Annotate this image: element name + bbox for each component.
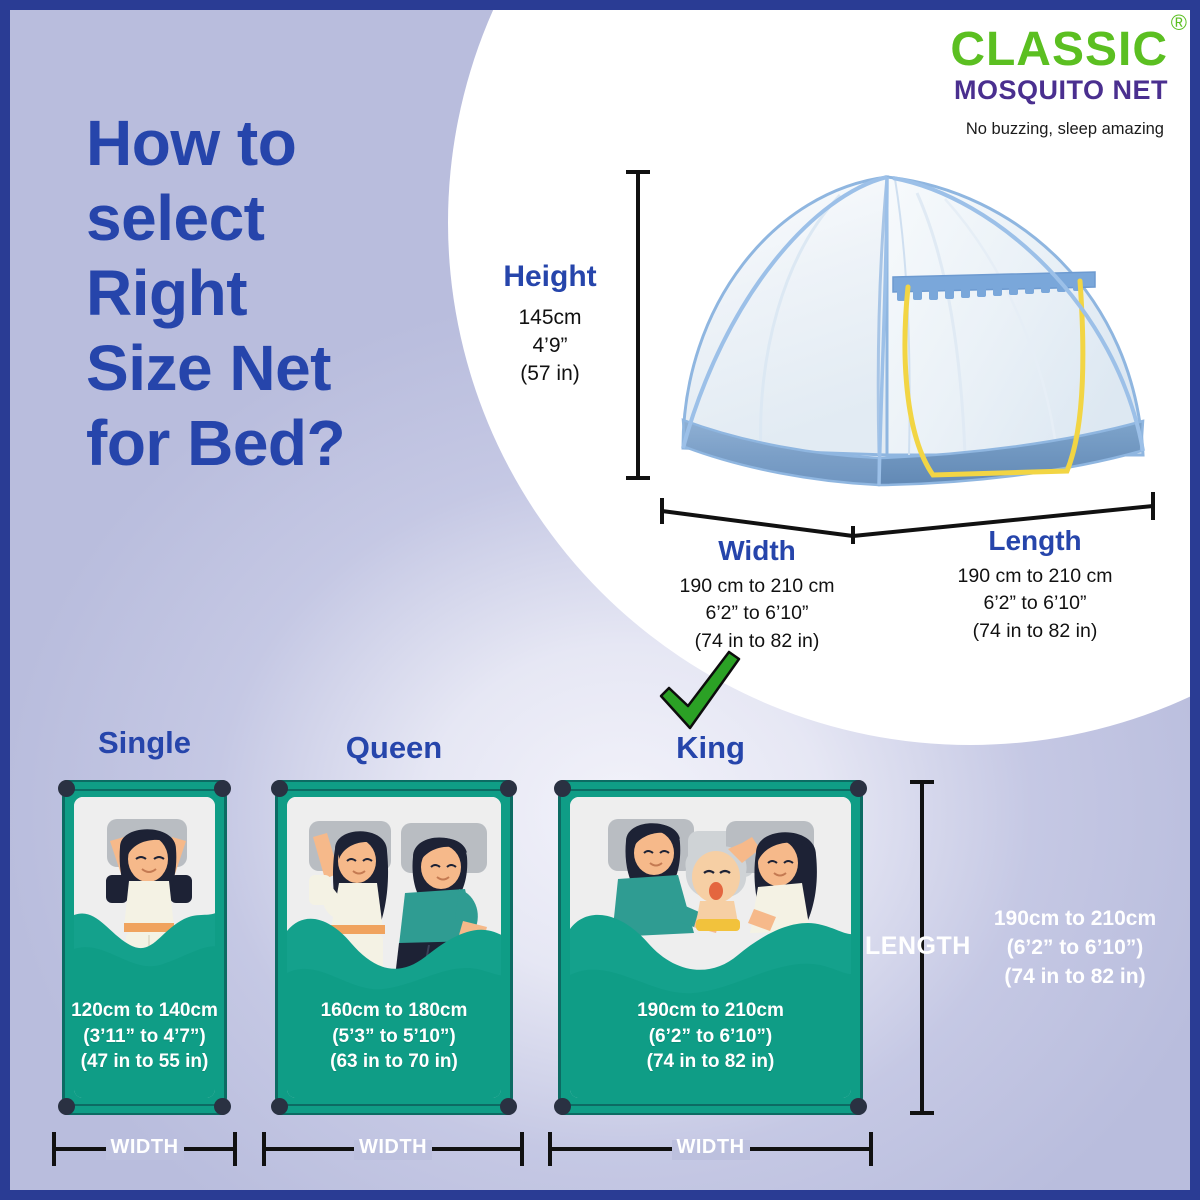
bed-width-ruler-queen: WIDTH: [262, 1128, 524, 1170]
bed-post-icon: [58, 1098, 75, 1115]
single-in: (47 in to 55 in): [65, 1049, 224, 1075]
tent-length-label: Length 190 cm to 210 cm 6’2” to 6’10” (7…: [910, 525, 1160, 645]
bed-caption-king: 190cm to 210cm (6’2” to 6’10”) (74 in to…: [561, 998, 860, 1075]
bed-length-cm: 190cm to 210cm: [965, 905, 1185, 934]
single-cm: 120cm to 140cm: [65, 998, 224, 1024]
width-ft: 6’2” to 6’10”: [637, 600, 877, 627]
brand-logo: CLASSIC ® MOSQUITO NET No buzzing, sleep…: [768, 26, 1168, 139]
length-ft: 6’2” to 6’10”: [910, 590, 1160, 617]
title-line-1: How to: [86, 106, 416, 181]
bed-post-icon: [500, 780, 517, 797]
brand-tagline: No buzzing, sleep amazing: [768, 120, 1164, 139]
title-line-2: select: [86, 181, 416, 256]
bed-post-icon: [554, 1098, 571, 1115]
king-in: (74 in to 82 in): [561, 1049, 860, 1075]
bed-caption-queen: 160cm to 180cm (5’3” to 5’10”) (63 in to…: [278, 998, 510, 1075]
bed-title-queen: Queen: [275, 730, 513, 766]
registered-trademark-icon: ®: [1171, 12, 1188, 34]
checkmark-icon: [655, 650, 745, 740]
length-cm: 190 cm to 210 cm: [910, 563, 1160, 590]
bed-illustration-queen: 160cm to 180cm (5’3” to 5’10”) (63 in to…: [275, 785, 513, 1110]
bed-illustration-king: 190cm to 210cm (6’2” to 6’10”) (74 in to…: [558, 785, 863, 1110]
queen-in: (63 in to 70 in): [278, 1049, 510, 1075]
tent-height-label: Height 145cm 4’9” (57 in): [480, 260, 620, 388]
bed-headboard-single: [61, 780, 228, 791]
poster-canvas: How to select Right Size Net for Bed? CL…: [10, 10, 1190, 1190]
ruler-label-king: WIDTH: [548, 1136, 873, 1159]
length-in: (74 in to 82 in): [910, 618, 1160, 645]
bed-caption-single: 120cm to 140cm (3’11” to 4’7”) (47 in to…: [65, 998, 224, 1075]
bed-length-cap-bottom: [910, 1111, 934, 1115]
queen-cm: 160cm to 180cm: [278, 998, 510, 1024]
bed-post-icon: [271, 1098, 288, 1115]
bed-width-ruler-king: WIDTH: [548, 1128, 873, 1170]
bed-width-ruler-single: WIDTH: [52, 1128, 237, 1170]
height-ft: 4’9”: [480, 332, 620, 360]
height-heading: Height: [480, 260, 620, 294]
bed-footboard-queen: [274, 1104, 514, 1115]
king-ft: (6’2” to 6’10”): [561, 1024, 860, 1050]
bed-length-in: (74 in to 82 in): [965, 963, 1185, 992]
bed-post-icon: [58, 780, 75, 797]
page-title: How to select Right Size Net for Bed?: [86, 106, 416, 480]
length-heading: Length: [910, 525, 1160, 557]
bed-post-icon: [500, 1098, 517, 1115]
brand-name: CLASSIC ®: [950, 26, 1168, 75]
height-cm: 145cm: [480, 304, 620, 332]
bed-length-values: 190cm to 210cm (6’2” to 6’10”) (74 in to…: [965, 905, 1185, 992]
bed-post-icon: [271, 780, 288, 797]
bed-length-ft: (6’2” to 6’10”): [965, 934, 1185, 963]
bed-headboard-queen: [274, 780, 514, 791]
tent-svg: [665, 155, 1165, 495]
bed-post-icon: [214, 1098, 231, 1115]
bed-length-word: LENGTH: [865, 932, 971, 961]
tent-width-label: Width 190 cm to 210 cm 6’2” to 6’10” (74…: [637, 535, 877, 655]
ruler-label-single: WIDTH: [52, 1136, 237, 1159]
brand-subtitle: MOSQUITO NET: [768, 75, 1168, 106]
title-line-3: Right: [86, 256, 416, 331]
king-cm: 190cm to 210cm: [561, 998, 860, 1024]
width-heading: Width: [637, 535, 877, 567]
bed-footboard-single: [61, 1104, 228, 1115]
bed-illustration-single: 120cm to 140cm (3’11” to 4’7”) (47 in to…: [62, 785, 227, 1110]
brand-text: CLASSIC: [950, 23, 1168, 76]
bed-post-icon: [850, 780, 867, 797]
width-cm: 190 cm to 210 cm: [637, 573, 877, 600]
bed-post-icon: [850, 1098, 867, 1115]
bed-post-icon: [554, 780, 571, 797]
bed-title-king: King: [558, 730, 863, 766]
bed-footboard-king: [557, 1104, 864, 1115]
height-in: (57 in): [480, 360, 620, 388]
bed-post-icon: [214, 780, 231, 797]
title-line-4: Size Net: [86, 331, 416, 406]
infographic-poster: How to select Right Size Net for Bed? CL…: [0, 0, 1200, 1200]
mosquito-net-tent-illustration: [665, 155, 1165, 495]
queen-ft: (5’3” to 5’10”): [278, 1024, 510, 1050]
ruler-label-queen: WIDTH: [262, 1136, 524, 1159]
height-cap-bottom: [626, 476, 650, 480]
single-ft: (3’11” to 4’7”): [65, 1024, 224, 1050]
tent-height-dimension-line: [626, 170, 650, 480]
bed-headboard-king: [557, 780, 864, 791]
check-svg: [655, 650, 745, 740]
height-line: [636, 170, 640, 480]
title-line-5: for Bed?: [86, 406, 416, 481]
bed-title-single: Single: [62, 725, 227, 761]
